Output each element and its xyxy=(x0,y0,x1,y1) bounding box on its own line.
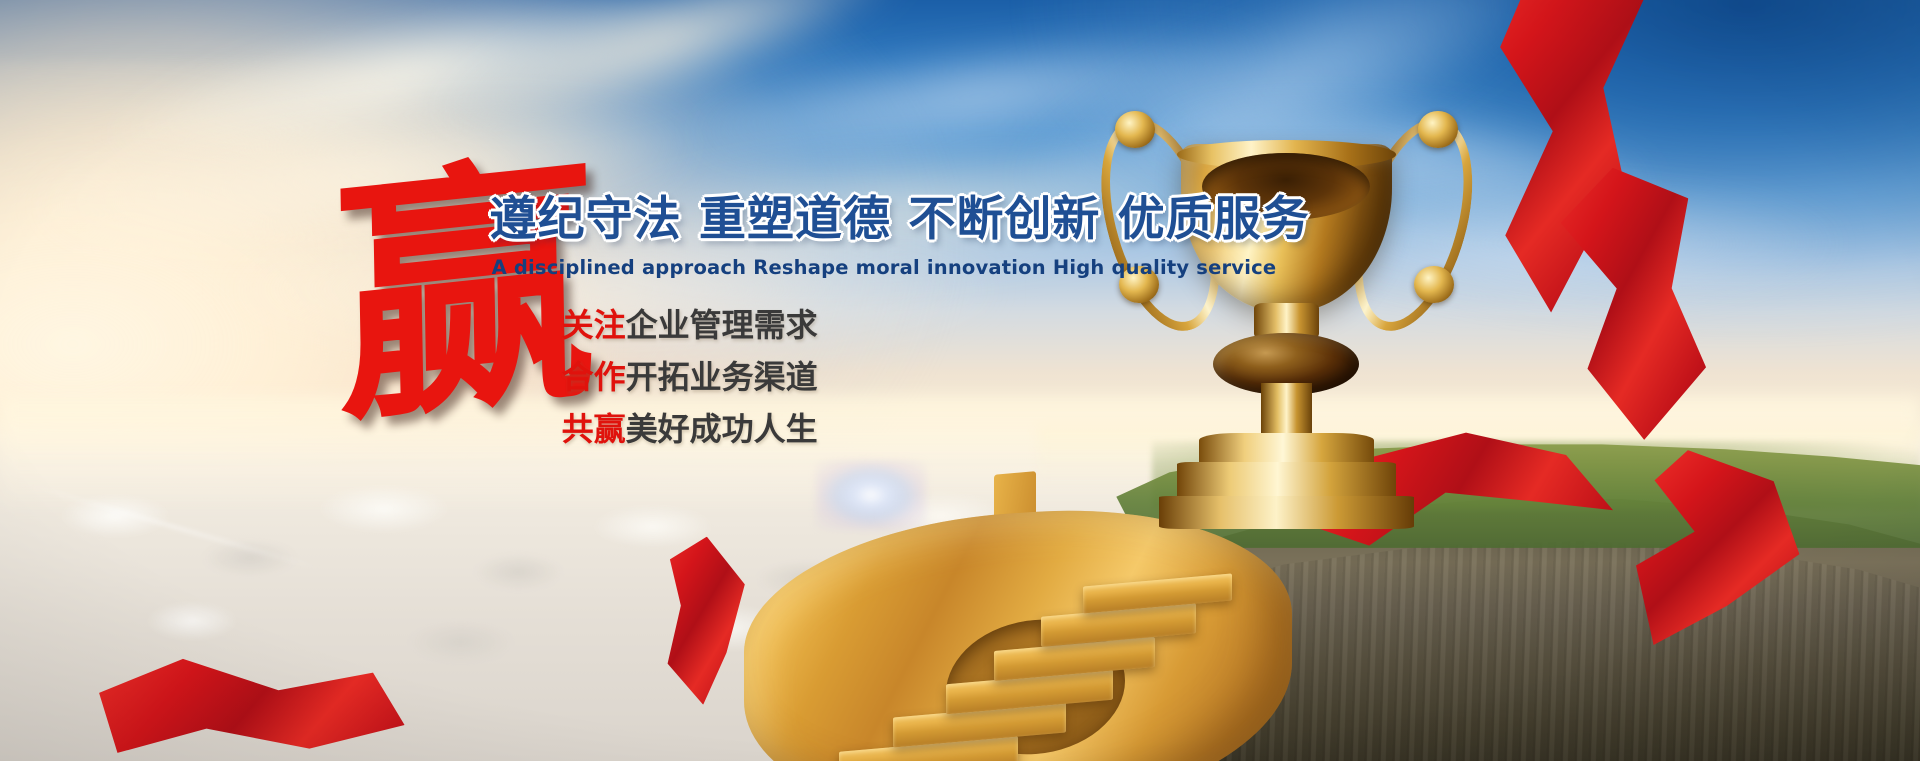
headline-slogan: 遵纪守法 重塑道德 不断创新 优质服务 xyxy=(490,194,1335,246)
slogan-rest: 开拓业务渠道 xyxy=(626,358,818,396)
slogan-line: 合作开拓业务渠道 xyxy=(562,351,1335,403)
slogan-text-block: 遵纪守法 重塑道德 不断创新 优质服务 A disciplined approa… xyxy=(490,194,1335,455)
trophy-base-bottom xyxy=(1159,496,1414,529)
slogan-line: 关注企业管理需求 xyxy=(562,299,1335,351)
slogan-line: 共赢美好成功人生 xyxy=(562,403,1335,455)
banner-root: 赢 遵纪守法 重塑道德 不断创新 优质服务 A disciplined appr… xyxy=(0,0,1920,761)
slogan-rest: 企业管理需求 xyxy=(626,306,818,344)
slogan-keyword: 共赢 xyxy=(562,410,626,448)
trophy-scroll-ornament xyxy=(1414,266,1454,304)
trophy-scroll-ornament xyxy=(1115,111,1155,149)
slogan-bullet-list: 关注企业管理需求 合作开拓业务渠道 共赢美好成功人生 xyxy=(562,299,1335,455)
subtitle-english: A disciplined approach Reshape moral inn… xyxy=(492,256,1335,279)
slogan-keyword: 合作 xyxy=(562,358,626,396)
slogan-keyword: 关注 xyxy=(562,306,626,344)
trophy-base-mid xyxy=(1177,462,1396,500)
trophy-scroll-ornament xyxy=(1418,111,1458,149)
slogan-rest: 美好成功人生 xyxy=(626,410,818,448)
